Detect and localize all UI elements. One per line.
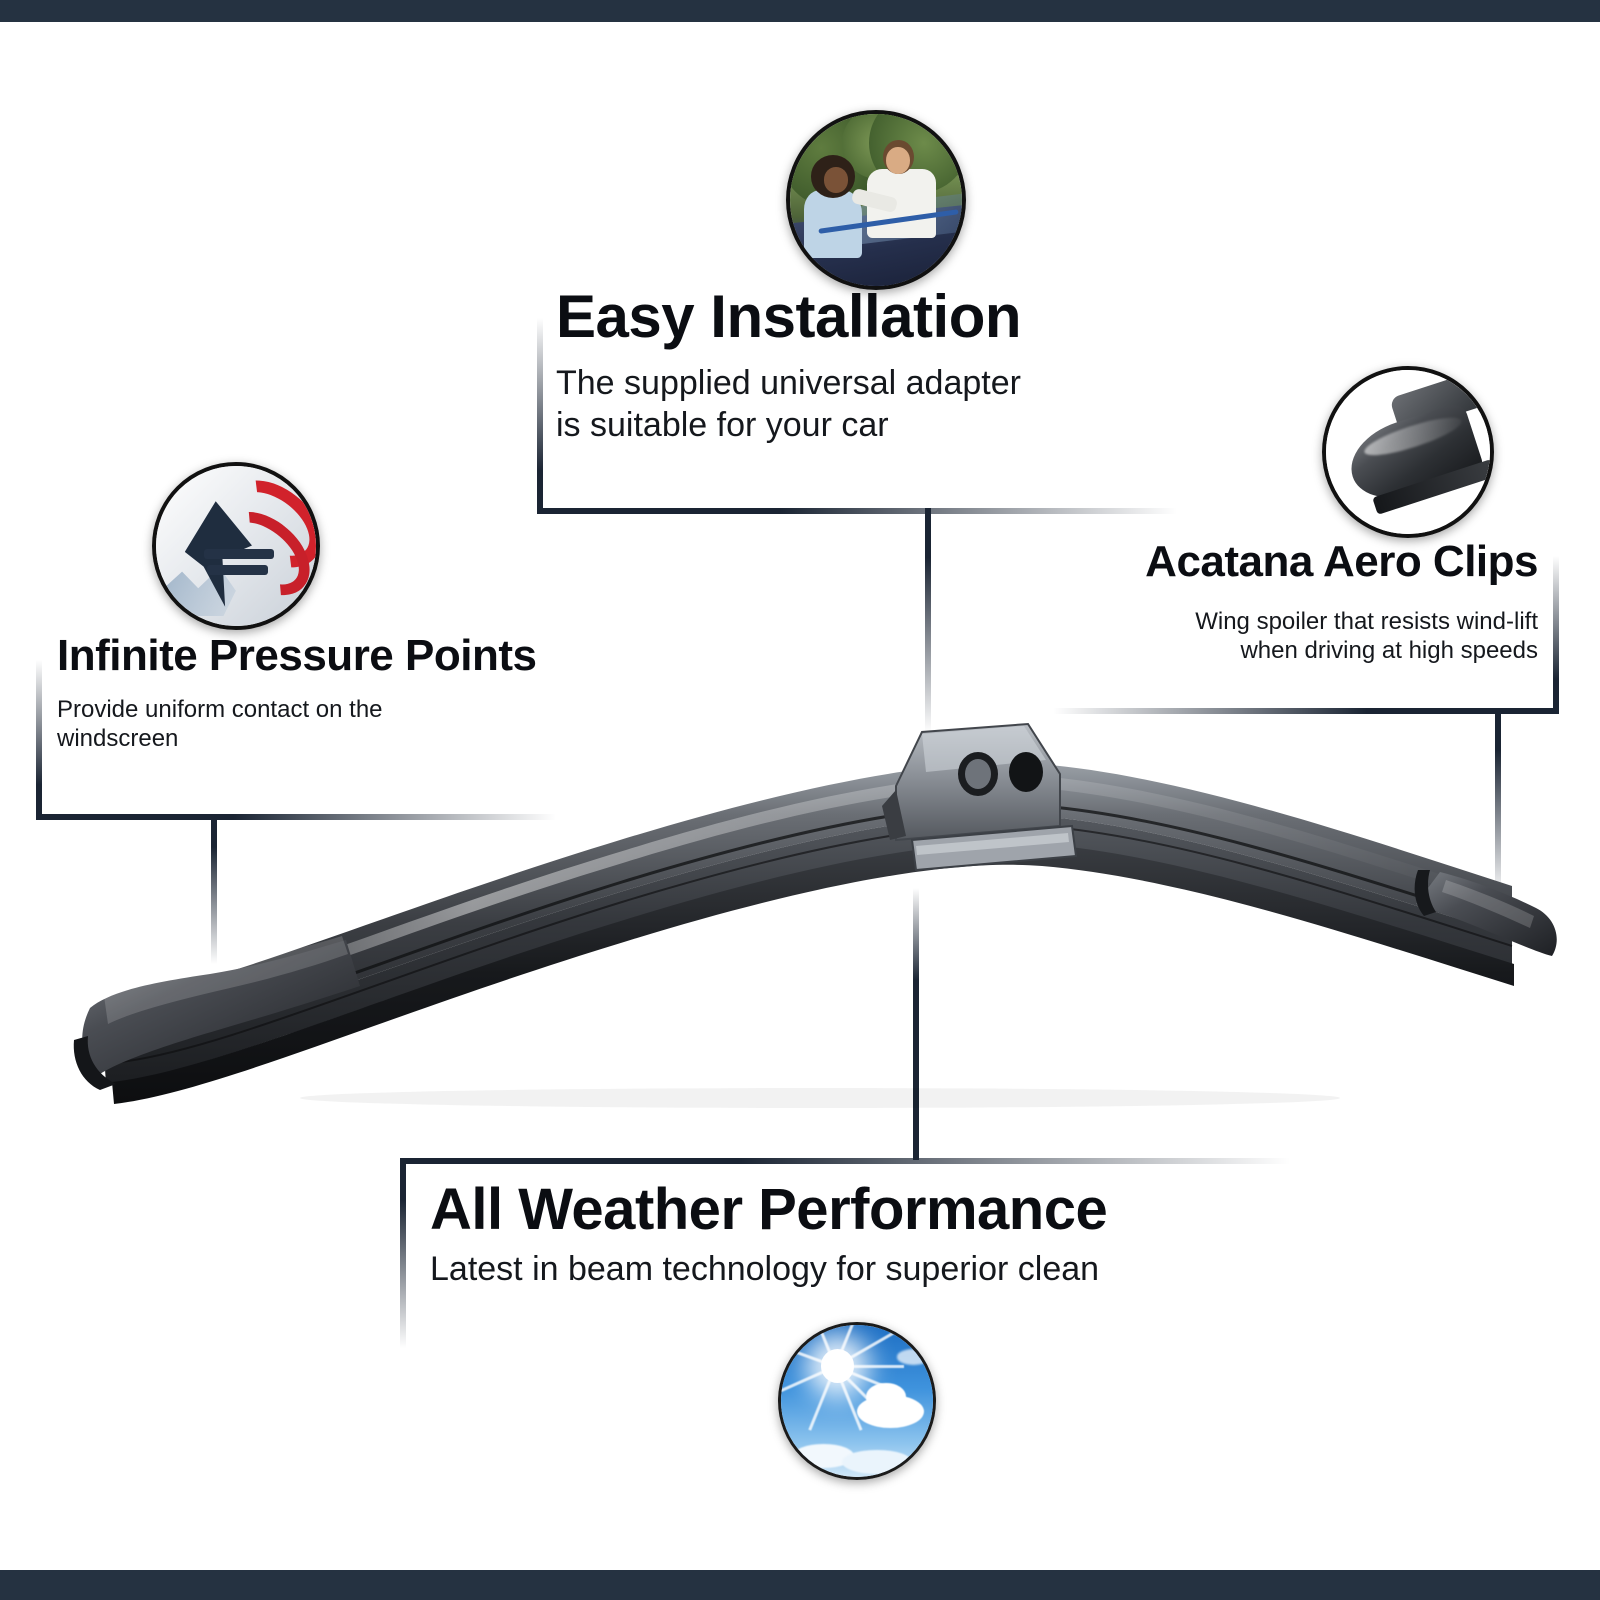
wiper-endcap-photo-icon <box>1322 366 1494 538</box>
acatana-logo-icon <box>152 462 320 630</box>
all-weather-left-border <box>400 1158 406 1348</box>
easy-installation-subtitle-line2: is suitable for your car <box>556 405 1176 446</box>
infographic-canvas: Easy Installation The supplied universal… <box>0 0 1600 1600</box>
aero-clips-subtitle: Wing spoiler that resists wind-lift when… <box>978 607 1538 666</box>
aero-clips-text-block: Acatana Aero Clips Wing spoiler that res… <box>978 540 1538 665</box>
easy-installation-title: Easy Installation <box>556 286 1176 347</box>
easy-installation-left-border <box>537 318 543 514</box>
installers-photo-icon <box>786 110 966 290</box>
easy-installation-bottom-line <box>537 508 1177 514</box>
all-weather-text-block: All Weather Performance Latest in beam t… <box>430 1180 1330 1291</box>
pressure-points-left-border <box>36 660 42 820</box>
bottom-bar <box>0 1570 1600 1600</box>
aero-clips-subtitle-line1: Wing spoiler that resists wind-lift <box>978 607 1538 636</box>
aero-beam-wiper-blade-image <box>60 690 1560 1120</box>
all-weather-title: All Weather Performance <box>430 1180 1330 1239</box>
aero-clips-subtitle-line2: when driving at high speeds <box>978 636 1538 665</box>
easy-installation-text-block: Easy Installation The supplied universal… <box>556 286 1176 446</box>
all-weather-top-line <box>400 1158 1290 1164</box>
all-weather-subtitle: Latest in beam technology for superior c… <box>430 1249 1330 1290</box>
easy-installation-subtitle-line1: The supplied universal adapter <box>556 363 1176 404</box>
sunny-sky-photo-icon <box>778 1322 936 1480</box>
pressure-points-title: Infinite Pressure Points <box>57 634 697 679</box>
top-bar <box>0 0 1600 22</box>
aero-clips-title: Acatana Aero Clips <box>978 540 1538 585</box>
easy-installation-subtitle: The supplied universal adapter is suitab… <box>556 363 1176 446</box>
